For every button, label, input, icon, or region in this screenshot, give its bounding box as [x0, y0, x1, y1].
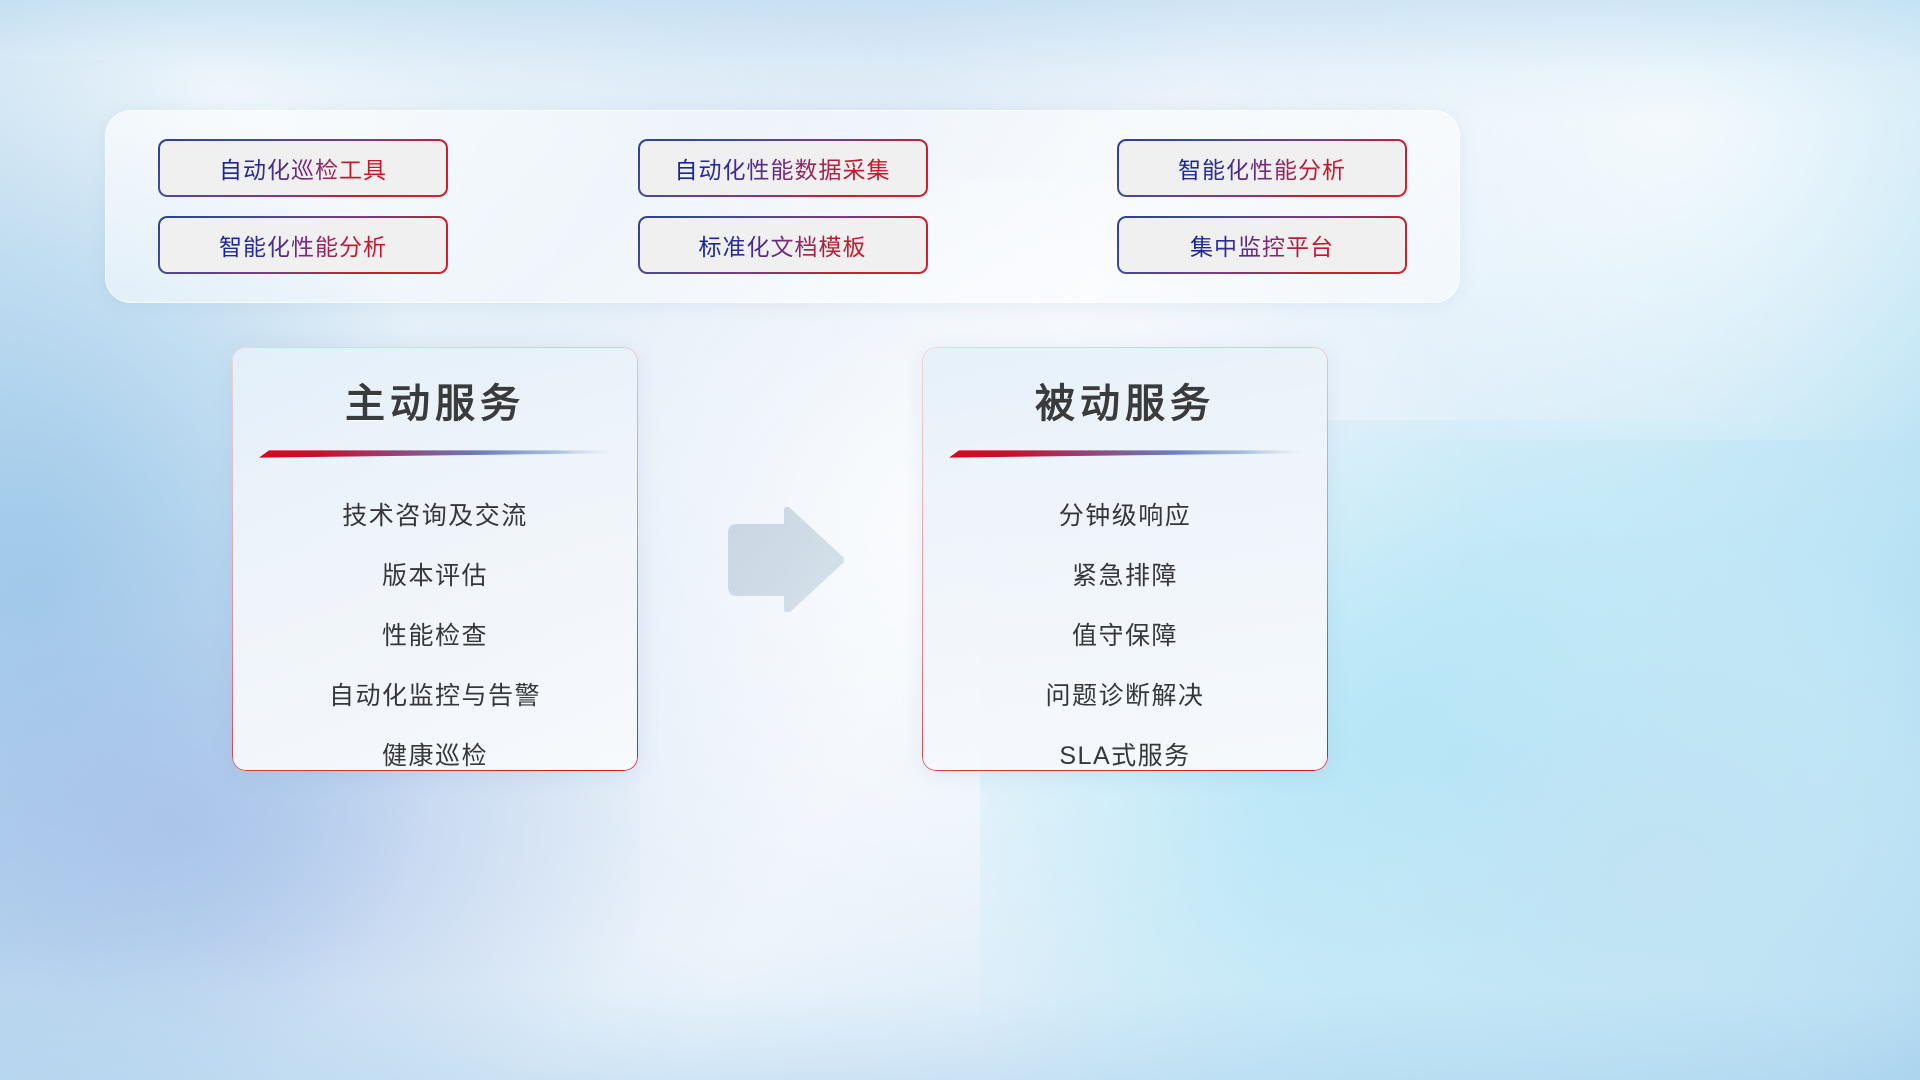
capability-tag[interactable]: 标准化文档模板: [638, 216, 928, 274]
capability-tag[interactable]: 智能化性能分析: [158, 216, 448, 274]
proactive-service-title: 主动服务: [232, 347, 638, 429]
capability-tag-label: 智能化性能分析: [219, 228, 387, 262]
right-arrow-icon: [718, 507, 848, 612]
list-item: 问题诊断解决: [944, 664, 1306, 724]
capability-tag[interactable]: 自动化巡检工具: [158, 139, 448, 197]
background-bottom-strip: [0, 940, 1920, 1080]
list-item: SLA式服务: [944, 724, 1306, 771]
capability-tag-row-1: 自动化巡检工具 自动化性能数据采集 智能化性能分析: [158, 139, 1407, 197]
proactive-service-list: 技术咨询及交流 版本评估 性能检查 自动化监控与告警 健康巡检: [232, 458, 638, 771]
proactive-divider: [259, 449, 611, 458]
proactive-service-card: 主动服务 技术咨询及交流 版本评估 性能检查 自动化监控与告警 健康巡检: [232, 347, 638, 771]
list-item: 版本评估: [254, 544, 616, 604]
reactive-service-title: 被动服务: [922, 347, 1328, 429]
reactive-service-list: 分钟级响应 紧急排障 值守保障 问题诊断解决 SLA式服务: [922, 458, 1328, 771]
capability-tag[interactable]: 自动化性能数据采集: [638, 139, 928, 197]
capability-tag-label: 智能化性能分析: [1178, 151, 1346, 185]
capability-tag-label: 集中监控平台: [1190, 228, 1334, 262]
list-item: 健康巡检: [254, 724, 616, 771]
list-item: 自动化监控与告警: [254, 664, 616, 724]
list-item: 分钟级响应: [944, 484, 1306, 544]
background-top-strip: [0, 0, 1920, 120]
capability-tag-label: 标准化文档模板: [699, 228, 867, 262]
list-item: 技术咨询及交流: [254, 484, 616, 544]
capability-tag[interactable]: 集中监控平台: [1117, 216, 1407, 274]
capability-tag-panel: 自动化巡检工具 自动化性能数据采集 智能化性能分析 智能化性能分析 标准化文档模…: [105, 110, 1460, 303]
list-item: 性能检查: [254, 604, 616, 664]
capability-tag-row-2: 智能化性能分析 标准化文档模板 集中监控平台: [158, 216, 1407, 274]
list-item: 紧急排障: [944, 544, 1306, 604]
reactive-divider: [949, 449, 1301, 458]
capability-tag[interactable]: 智能化性能分析: [1117, 139, 1407, 197]
capability-tag-label: 自动化性能数据采集: [675, 151, 891, 185]
capability-tag-label: 自动化巡检工具: [219, 151, 387, 185]
list-item: 值守保障: [944, 604, 1306, 664]
reactive-service-card: 被动服务 分钟级响应 紧急排障 值守保障 问题诊断解决 SLA式服务: [922, 347, 1328, 771]
